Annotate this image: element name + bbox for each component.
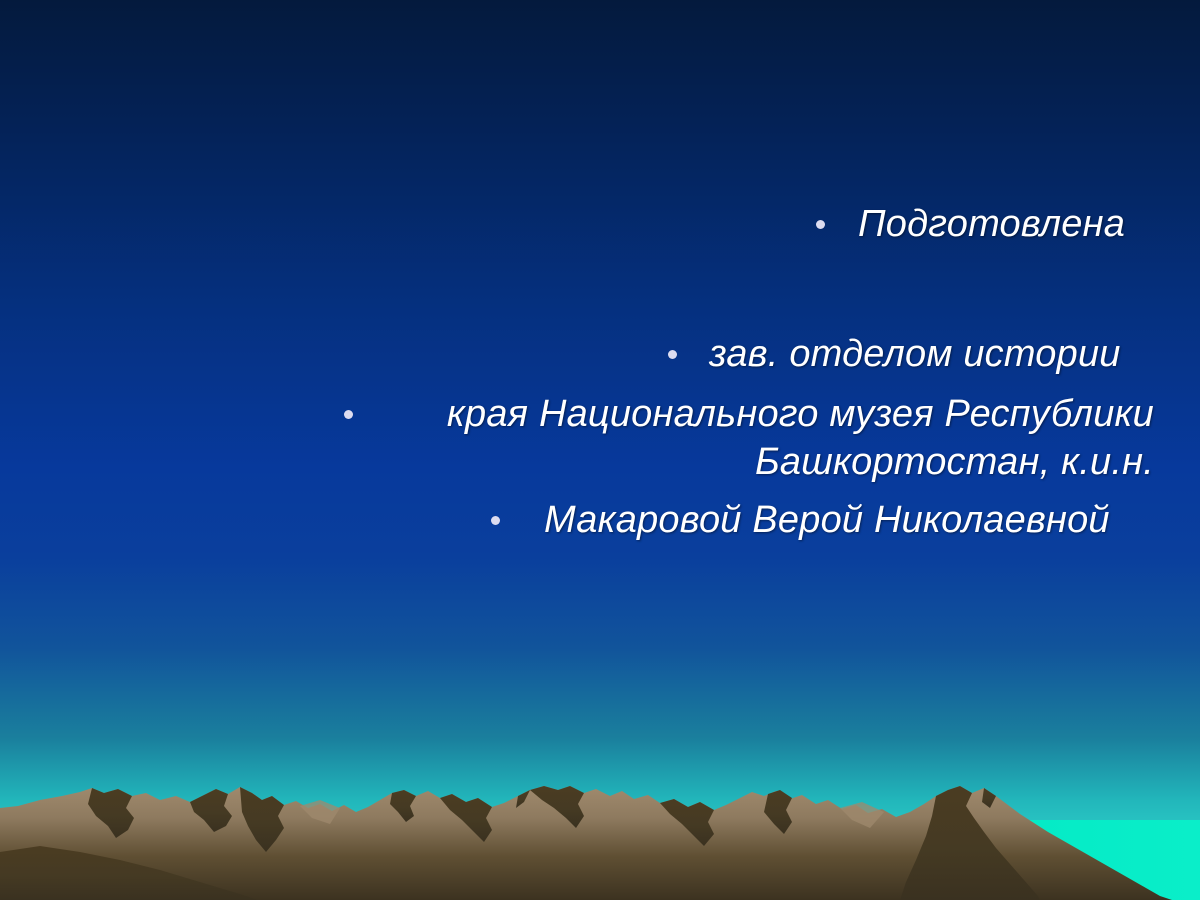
presentation-slide: Подготовлена зав. отделом истории края Н… [0,0,1200,900]
bullet-dot-icon [344,410,353,419]
bullet-text-1: Подготовлена [858,200,1125,248]
bullet-dot-icon [668,350,677,359]
bullet-text-4: Макаровой Верой Николаевной [544,496,1110,544]
bullet-dot-icon [816,220,825,229]
bullet-item-1: Подготовлена [816,200,1125,248]
bullet-item-2: зав. отделом истории [668,330,1121,378]
bullet-dot-icon [491,516,500,525]
bullet-item-3: края Национального музея Республики Башк… [344,390,1154,486]
bullet-text-2: зав. отделом истории [709,330,1121,378]
slide-text-block: Подготовлена зав. отделом истории края Н… [0,0,1200,900]
bullet-text-3: края Национального музея Республики Башк… [401,390,1154,486]
bullet-item-4: Макаровой Верой Николаевной [491,496,1110,544]
